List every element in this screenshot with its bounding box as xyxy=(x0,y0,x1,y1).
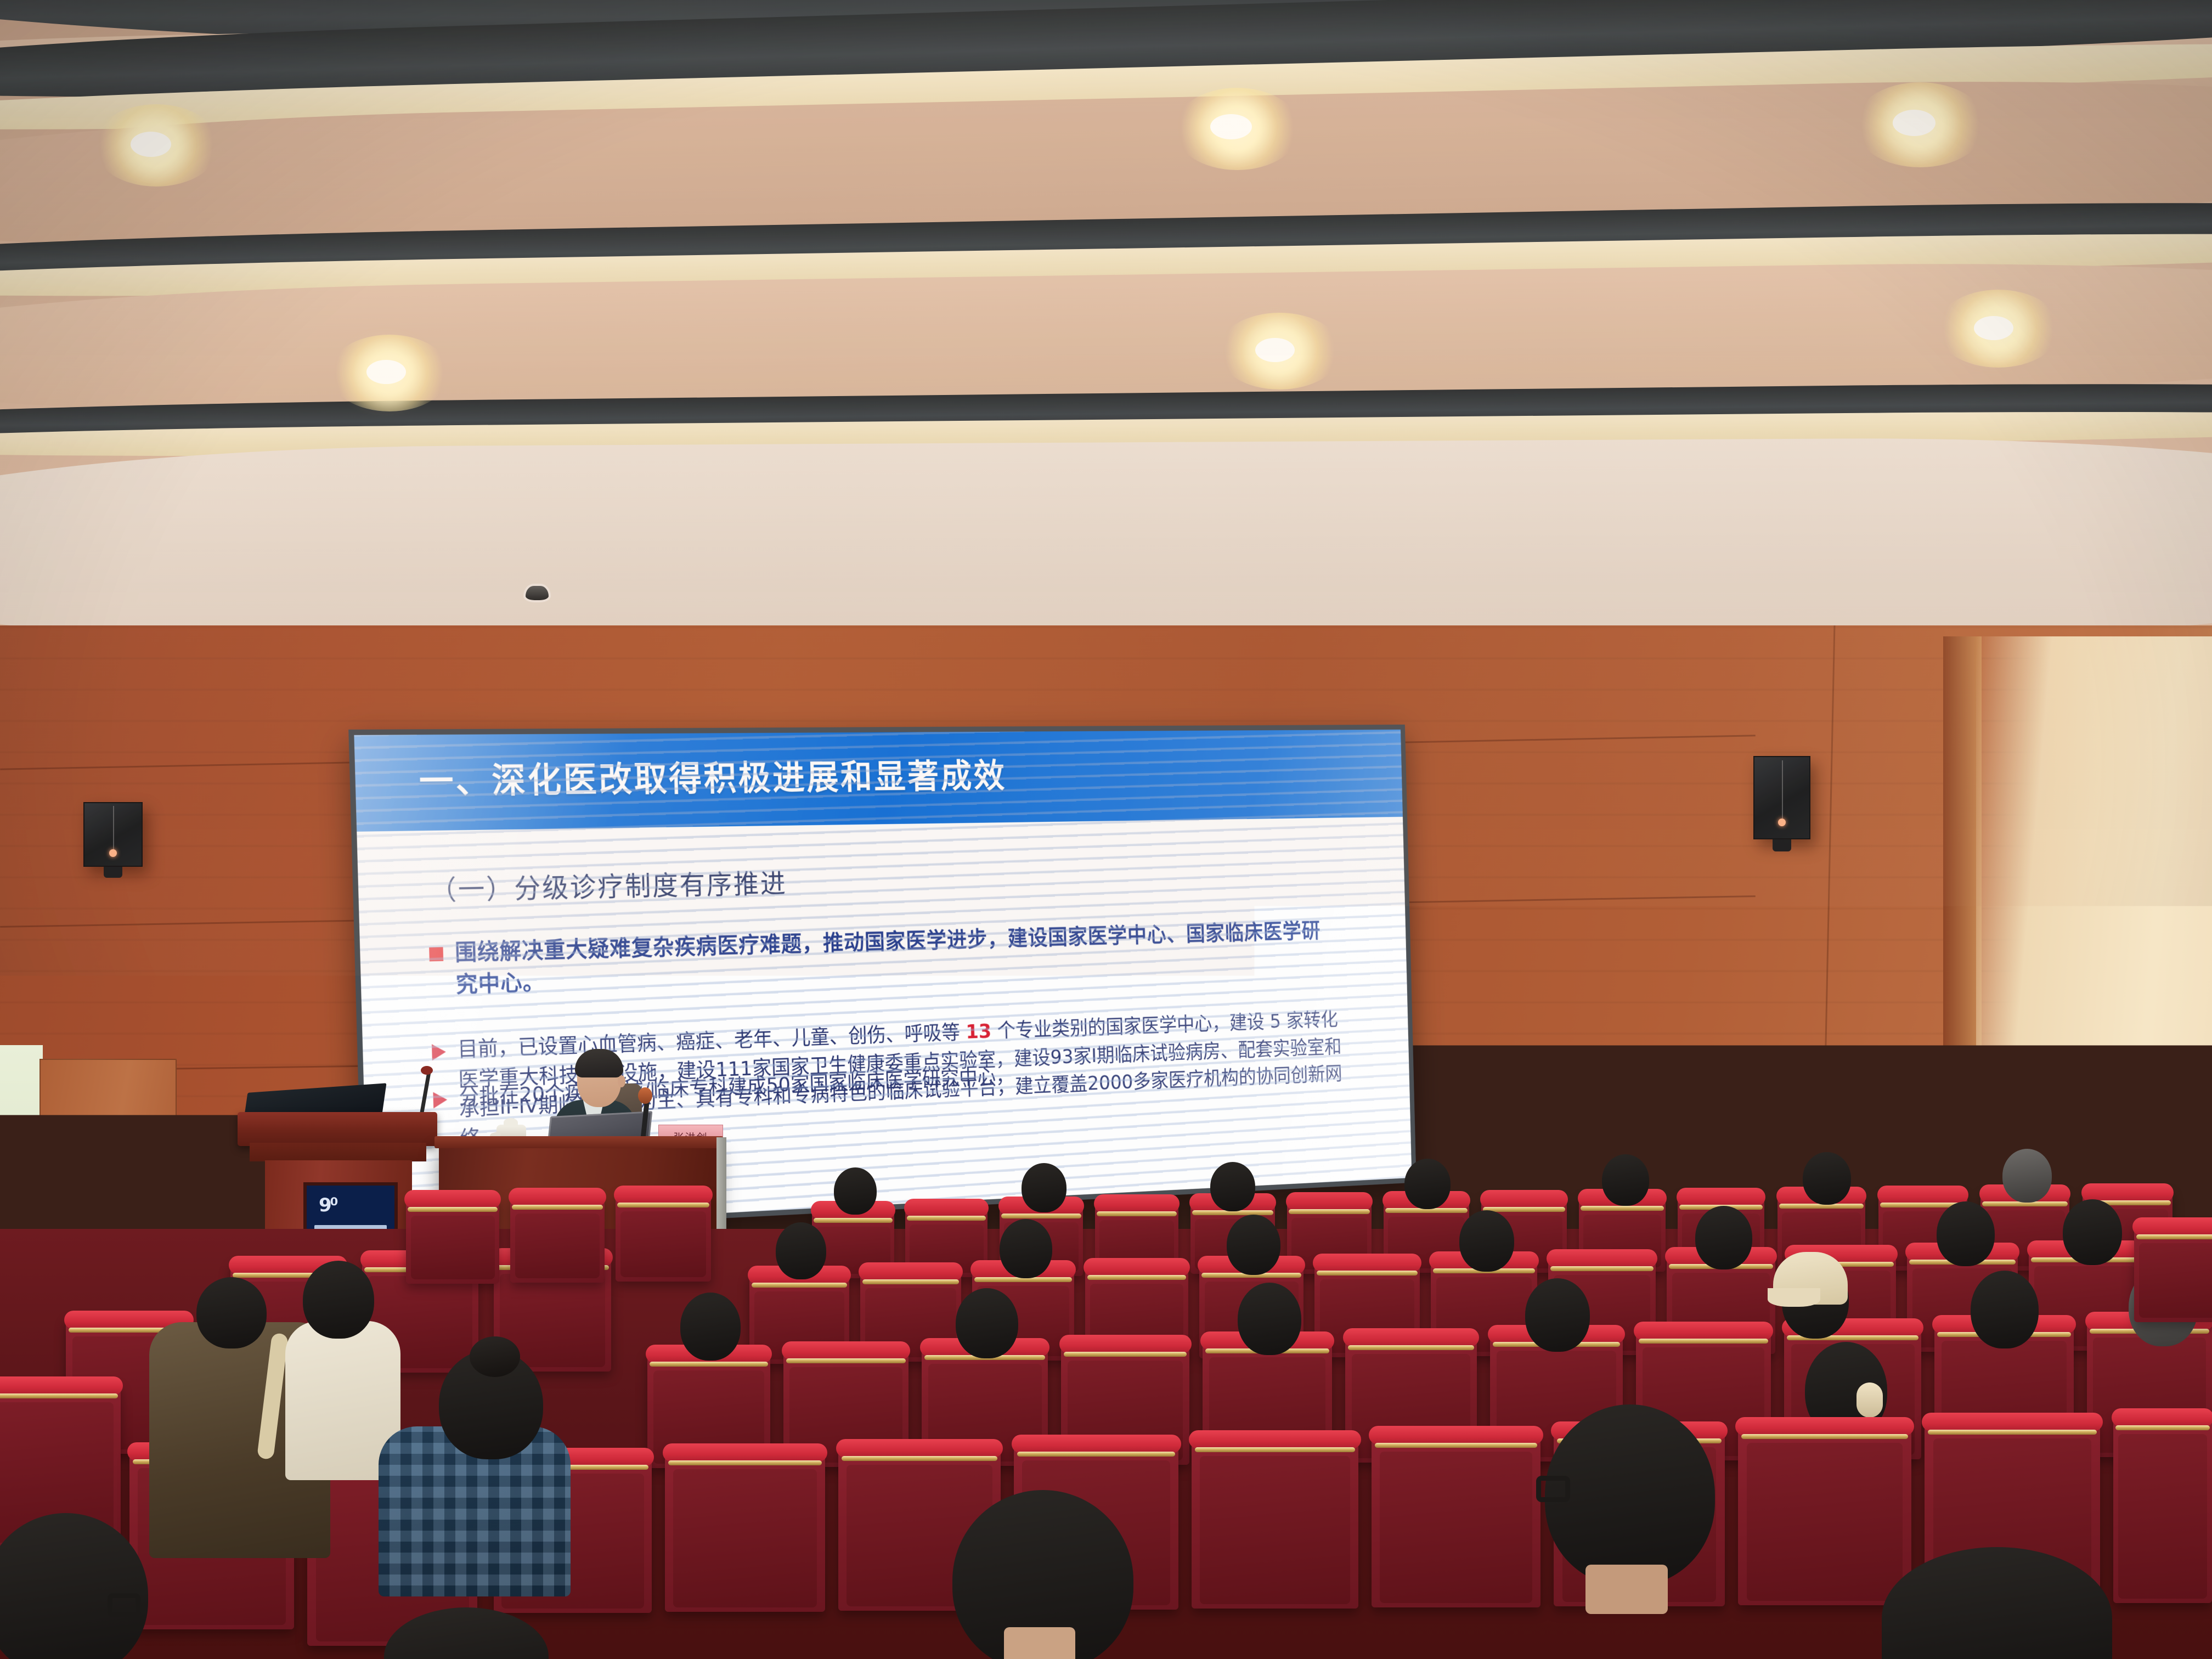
seat[interactable] xyxy=(1372,1432,1541,1607)
speaker-led-icon xyxy=(1778,819,1786,826)
ceiling-spotlight-core xyxy=(131,132,171,157)
arrow-bullet-icon xyxy=(433,1092,447,1109)
podium-top-ledge xyxy=(238,1112,437,1146)
seat[interactable] xyxy=(665,1449,825,1612)
hair-clip xyxy=(1857,1383,1883,1418)
arrow-bullet-icon xyxy=(432,1043,446,1060)
audience-head xyxy=(680,1293,741,1361)
ceiling-spotlight-core xyxy=(1893,110,1936,136)
audience-head xyxy=(1803,1152,1851,1205)
audience-neck xyxy=(1004,1627,1075,1659)
seat[interactable] xyxy=(1192,1436,1358,1609)
audience-head xyxy=(303,1261,374,1339)
teapot-lid xyxy=(504,1118,518,1127)
audience-head xyxy=(1937,1201,1995,1266)
slide-subtitle: （一）分级诊疗制度有序推进 xyxy=(429,862,787,908)
ceiling-spotlight-core xyxy=(366,360,406,384)
audience-cap-brim xyxy=(1768,1288,1820,1307)
square-bullet-icon xyxy=(429,947,443,961)
eyeglasses xyxy=(1536,1476,1570,1502)
ceiling-spotlight-core xyxy=(1974,316,2013,340)
seat[interactable] xyxy=(2113,1414,2212,1603)
bullet-1-text: 围绕解决重大疑难复杂疾病医疗难题，推动国家医学进步，建设国家医学中心、国家临床医… xyxy=(454,916,1334,1001)
seat[interactable] xyxy=(406,1196,499,1284)
ceiling-sensor-dome-icon xyxy=(526,586,549,600)
audience-head-foreground xyxy=(1545,1404,1715,1585)
seat[interactable] xyxy=(510,1194,605,1283)
audience-head xyxy=(1210,1162,1255,1211)
speaker-led-icon xyxy=(109,849,117,857)
audience-head xyxy=(834,1167,877,1215)
person-head xyxy=(8,1130,27,1150)
audience-neck xyxy=(1585,1565,1668,1614)
audience-head xyxy=(1000,1219,1052,1278)
eyeglasses xyxy=(108,1593,140,1617)
speaker-ear xyxy=(618,1075,625,1087)
bullet-2-highlight-number: 13 xyxy=(966,1019,992,1043)
podium-logo: 9⁰ xyxy=(319,1194,352,1214)
audience-head xyxy=(2002,1149,2052,1203)
audience-head xyxy=(1602,1154,1649,1206)
audience-head xyxy=(776,1222,826,1279)
audience-head xyxy=(1459,1210,1514,1272)
audience-head xyxy=(2063,1199,2122,1265)
slide-bullet-1: 围绕解决重大疑难复杂疾病医疗难题，推动国家医学进步，建设国家医学中心、国家临床医… xyxy=(429,916,1335,1002)
seat[interactable] xyxy=(2134,1223,2212,1322)
audience-head xyxy=(1695,1206,1752,1269)
auditorium-photo: 一、深化医改取得积极进展和显著成效 （一）分级诊疗制度有序推进 围绕解决重大疑难… xyxy=(0,0,2212,1659)
audience-head xyxy=(1227,1215,1280,1275)
hair-bun xyxy=(470,1336,520,1377)
audience-head xyxy=(1525,1278,1590,1352)
audience-head xyxy=(1022,1163,1066,1212)
podium-top-skirt xyxy=(250,1143,426,1161)
audience-head xyxy=(196,1277,267,1348)
ceiling-spotlight-core xyxy=(1210,114,1252,139)
slide-title: 一、深化医改取得积极进展和显著成效 xyxy=(419,749,1007,804)
table-microphone-head xyxy=(638,1087,652,1104)
head-table-top xyxy=(435,1136,723,1148)
ceiling-spotlight-core xyxy=(1255,338,1295,362)
audience-head xyxy=(1238,1283,1301,1355)
seat[interactable] xyxy=(616,1192,711,1282)
audience-head xyxy=(1971,1271,2039,1348)
audience-head xyxy=(956,1288,1018,1358)
wall-speaker-right xyxy=(1753,756,1810,839)
seat[interactable] xyxy=(1738,1423,1911,1605)
podium-microphone-head xyxy=(421,1066,433,1075)
audience-head xyxy=(1404,1159,1451,1209)
wall-speaker-left xyxy=(83,802,143,867)
